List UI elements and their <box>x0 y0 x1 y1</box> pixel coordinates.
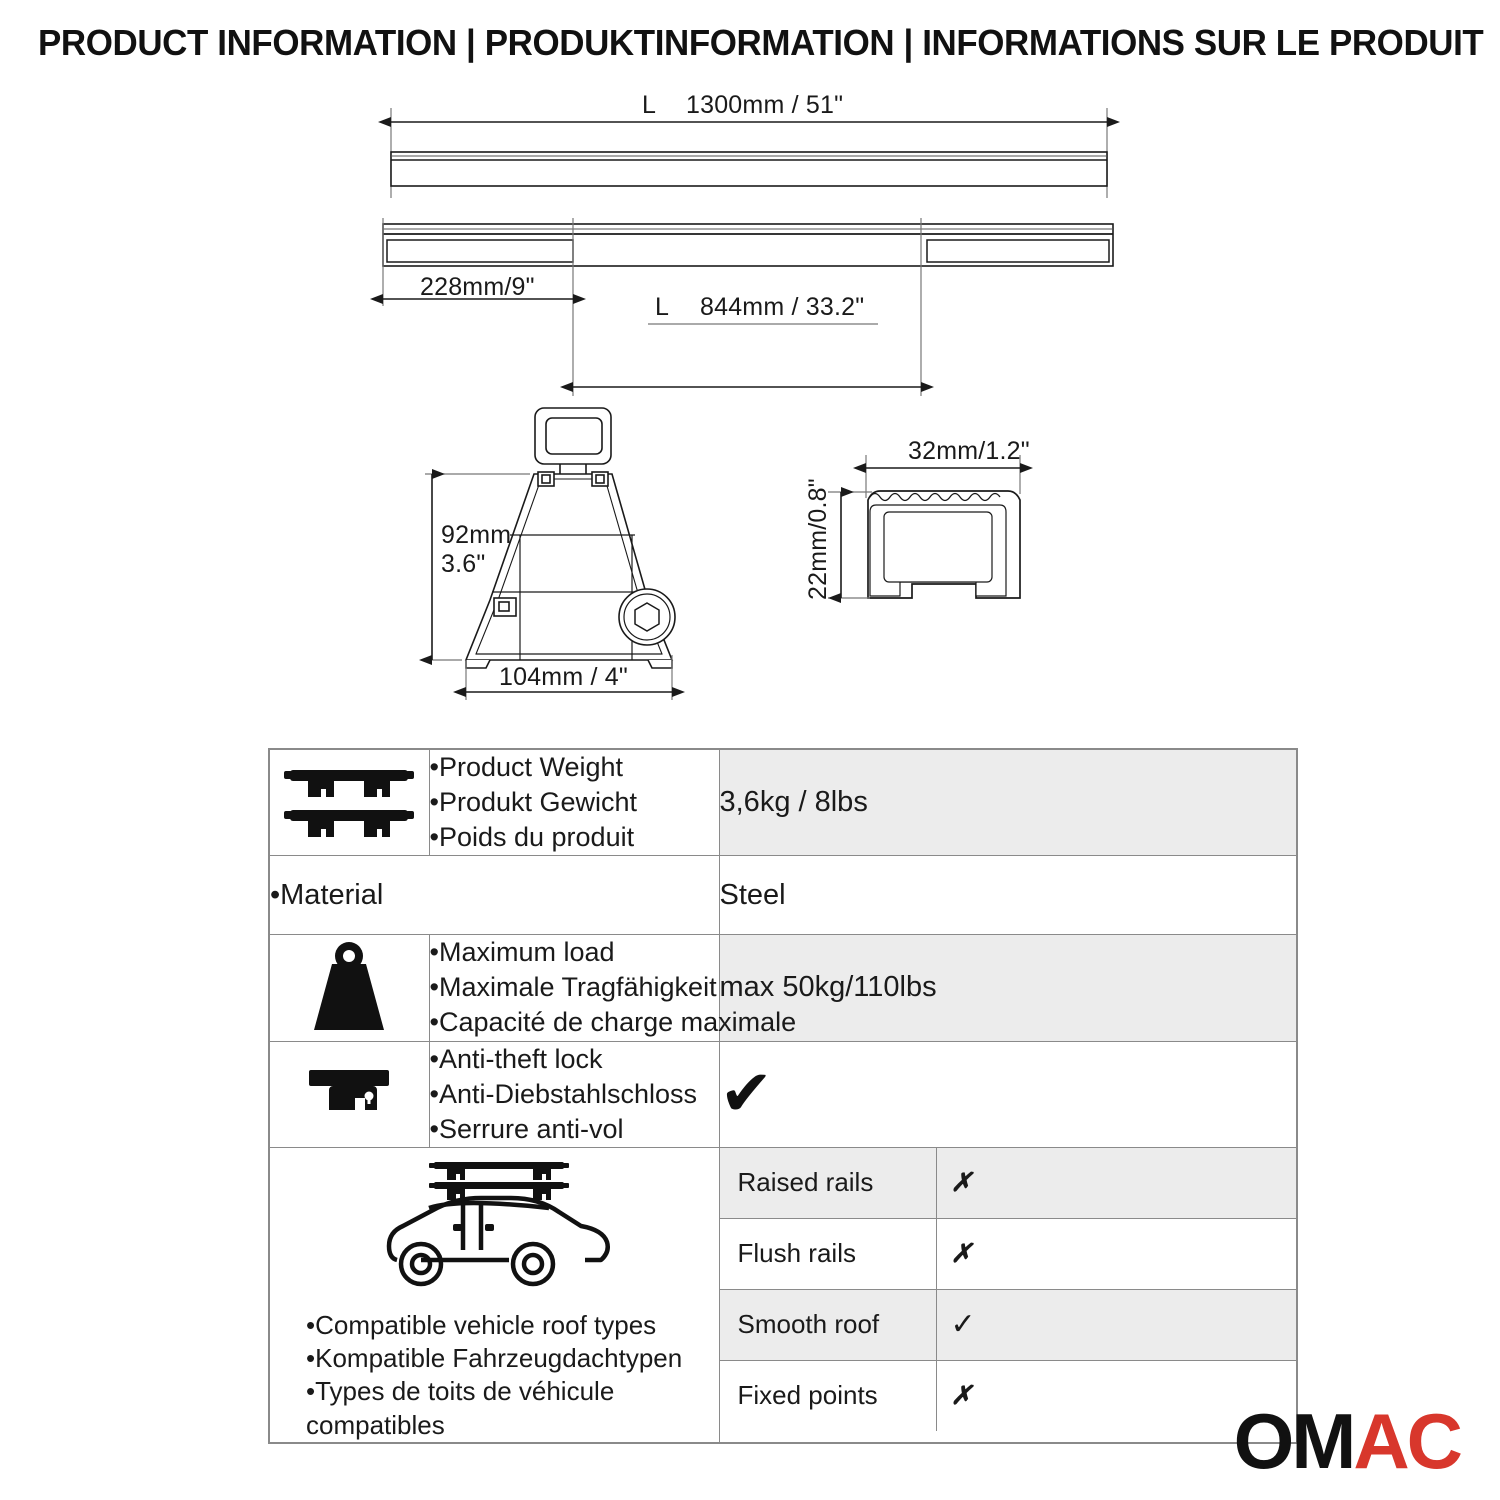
car-with-roofbars-icon <box>270 1148 719 1303</box>
omac-logo: OMAC <box>1234 1410 1460 1472</box>
anti-theft-label: •Anti-theft lock •Anti-Diebstahlschloss … <box>429 1041 719 1147</box>
bar-length-value: 1300mm / 51" <box>686 91 843 119</box>
logo-text-accent: AC <box>1353 1397 1460 1485</box>
label-line: •Compatible vehicle roof types <box>306 1309 719 1342</box>
roof-type-support: ✓ <box>936 1289 1296 1360</box>
table-row: •Product Weight •Produkt Gewicht •Poids … <box>269 749 1297 856</box>
roof-type-name: Fixed points <box>720 1360 937 1431</box>
anti-theft-value: ✔ <box>719 1041 1297 1147</box>
roof-types-subtable-cell: Raised rails ✗ Flush rails ✗ Smooth roof… <box>719 1147 1297 1443</box>
roof-bars-icon <box>269 749 429 856</box>
roof-types-table: Raised rails ✗ Flush rails ✗ Smooth roof… <box>720 1148 1297 1431</box>
max-load-value: max 50kg/110lbs <box>719 935 1297 1041</box>
label-line: •Kompatible Fahrzeugdachtypen <box>306 1342 719 1375</box>
product-weight-label: •Product Weight •Produkt Gewicht •Poids … <box>429 749 719 856</box>
label-line: •Poids du produit <box>430 820 719 855</box>
product-information-page: PRODUCT INFORMATION | PRODUKTINFORMATION… <box>0 0 1500 1500</box>
profile-height-value: 22mm/0.8" <box>804 478 832 600</box>
foot-offset-value: 228mm/9" <box>420 273 535 301</box>
material-value: Steel <box>719 856 1297 935</box>
product-weight-value: 3,6kg / 8lbs <box>719 749 1297 856</box>
label-line: •Product Weight <box>430 750 719 785</box>
material-label: •Material <box>269 856 719 935</box>
table-row: •Anti-theft lock •Anti-Diebstahlschloss … <box>269 1041 1297 1147</box>
label-line: •Maximum load <box>430 935 719 970</box>
label-line: •Serrure anti-vol <box>430 1112 719 1147</box>
spread-value: 844mm / 33.2" <box>700 293 864 321</box>
roof-type-row: Fixed points ✗ <box>720 1360 1297 1431</box>
roof-type-name: Flush rails <box>720 1218 937 1289</box>
compatible-roof-types-label: •Compatible vehicle roof types •Kompatib… <box>270 1303 719 1442</box>
table-row: •Maximum load •Maximale Tragfähigkeit •C… <box>269 935 1297 1041</box>
label-line: compatibles <box>306 1409 719 1442</box>
foot-height-line2: 3.6" <box>441 550 485 578</box>
lock-foot-icon <box>269 1041 429 1147</box>
roof-type-name: Smooth roof <box>720 1289 937 1360</box>
roof-type-support: ✗ <box>936 1148 1296 1219</box>
roof-type-row: Raised rails ✗ <box>720 1148 1297 1219</box>
weight-icon <box>269 935 429 1041</box>
profile-width-value: 32mm/1.2" <box>908 437 1030 465</box>
label-line: •Produkt Gewicht <box>430 785 719 820</box>
roof-type-row: Flush rails ✗ <box>720 1218 1297 1289</box>
foot-width-value: 104mm / 4" <box>499 663 628 691</box>
technical-drawing: L 1300mm / 51" 228mm/9" L 844mm / 33.2" <box>0 0 1500 740</box>
specification-table: •Product Weight •Produkt Gewicht •Poids … <box>268 748 1298 1444</box>
label-line: •Maximale Tragfähigkeit <box>430 970 719 1005</box>
label-line: •Capacité de charge maximale <box>430 1005 719 1040</box>
spread-prefix: L <box>655 293 669 321</box>
max-load-label: •Maximum load •Maximale Tragfähigkeit •C… <box>429 935 719 1041</box>
bar-length-prefix: L <box>642 91 656 119</box>
label-line: •Anti-theft lock <box>430 1042 719 1077</box>
compatible-roof-types-cell: •Compatible vehicle roof types •Kompatib… <box>269 1147 719 1443</box>
foot-height-line1: 92mm <box>441 521 511 549</box>
label-line: •Anti-Diebstahlschloss <box>430 1077 719 1112</box>
table-row: •Material Steel <box>269 856 1297 935</box>
table-row: •Compatible vehicle roof types •Kompatib… <box>269 1147 1297 1443</box>
logo-text-primary: OM <box>1234 1397 1354 1485</box>
label-line: •Types de toits de véhicule <box>306 1375 719 1408</box>
roof-type-row: Smooth roof ✓ <box>720 1289 1297 1360</box>
roof-type-name: Raised rails <box>720 1148 937 1219</box>
roof-type-support: ✗ <box>936 1218 1296 1289</box>
